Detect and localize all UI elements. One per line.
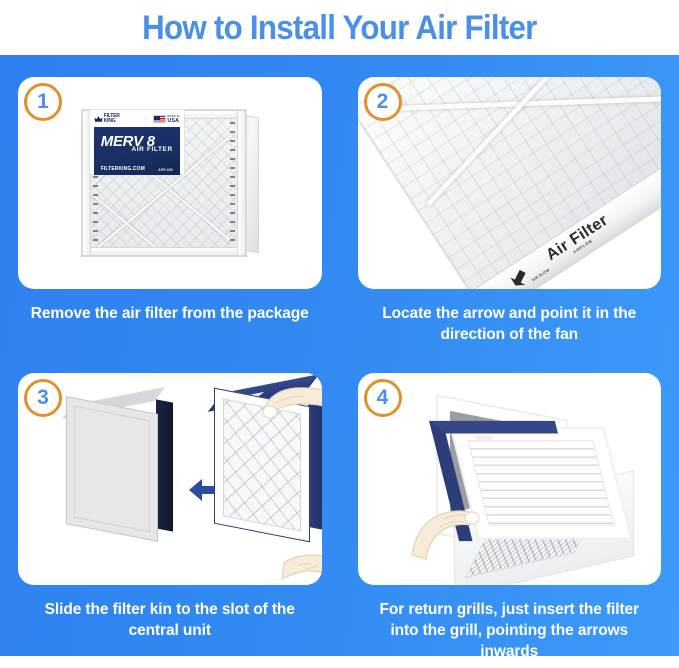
filter-arrow-mark <box>475 435 493 442</box>
air-filter-product-photo: FILTER KING MADE IN USA <box>75 103 265 263</box>
step-2-card: 2 <box>358 77 662 289</box>
hand-gripping-top-icon <box>254 379 322 427</box>
step-4-caption: For return grills, just insert the filte… <box>364 599 655 662</box>
brand-text: FILTER KING <box>104 114 120 124</box>
label-footer-row: FILTERKING.COM APR 650 <box>101 166 173 172</box>
filter-frame-bottom <box>82 247 246 256</box>
step-3-badge: 3 <box>24 379 62 417</box>
step-3-card: 3 <box>18 373 322 585</box>
filter-corner-body: AIR FLOW Air Filter AIRFLOW <box>358 77 662 289</box>
label-blue-panel: MERV 8 AIR FILTER FILTERKING.COM APR 650 <box>94 127 180 175</box>
unit-front-face <box>66 396 158 542</box>
header: How to Install Your Air Filter <box>0 0 679 55</box>
step-2-illustration: AIR FLOW Air Filter AIRFLOW <box>358 77 662 289</box>
usa-flag-icon <box>153 115 166 123</box>
step-2-badge: 2 <box>364 83 402 121</box>
product-label: FILTER KING MADE IN USA <box>89 109 185 175</box>
step-4-card: 4 <box>358 373 662 585</box>
step-1: 1 <box>0 55 340 351</box>
airflow-label: AIR FLOW <box>531 268 550 282</box>
steps-grid: 1 <box>0 55 679 656</box>
step-2-caption: Locate the arrow and point it in the dir… <box>364 303 655 345</box>
label-header-row: FILTER KING MADE IN USA <box>94 113 180 125</box>
body-background: 1 <box>0 55 679 656</box>
step-4-badge: 4 <box>364 379 402 417</box>
filter-corner-photo: AIR FLOW Air Filter AIRFLOW <box>358 77 662 289</box>
made-in-usa-text: MADE IN USA <box>167 114 179 124</box>
country-label: USA <box>167 118 179 124</box>
step-1-badge: 1 <box>24 83 62 121</box>
hand-inserting-filter-icon <box>410 489 506 563</box>
hand-supporting-bottom-icon <box>280 551 322 583</box>
made-in-usa-badge: MADE IN USA <box>153 114 180 124</box>
step-3-illustration <box>18 373 322 585</box>
filter-pleat-ticks-right <box>230 122 235 244</box>
brand-line-2: KING <box>104 119 120 124</box>
page-title: How to Install Your Air Filter <box>142 9 536 47</box>
infographic-root: How to Install Your Air Filter 1 <box>0 0 679 656</box>
step-3: 3 <box>0 351 340 668</box>
crown-icon <box>94 115 103 124</box>
unit-slot-opening <box>156 399 173 531</box>
step-3-caption: Slide the filter kin to the slot of the … <box>24 599 315 641</box>
step-2: 2 <box>340 55 679 351</box>
step-1-illustration: FILTER KING MADE IN USA <box>18 77 322 289</box>
merv-block: MERV 8 AIR FILTER <box>101 134 173 153</box>
filter-frame-right <box>237 110 246 256</box>
filter-king-logo: FILTER KING <box>94 114 120 124</box>
step-4: 4 <box>340 351 679 668</box>
airflow-arrow-icon <box>504 264 532 289</box>
step-4-illustration <box>358 373 662 585</box>
step-1-caption: Remove the air filter from the package <box>24 303 315 324</box>
step-1-card: 1 <box>18 77 322 289</box>
central-unit-slot <box>66 391 176 539</box>
apr-rating-text: APR 650 <box>158 168 173 172</box>
website-text: FILTERKING.COM <box>101 166 145 172</box>
